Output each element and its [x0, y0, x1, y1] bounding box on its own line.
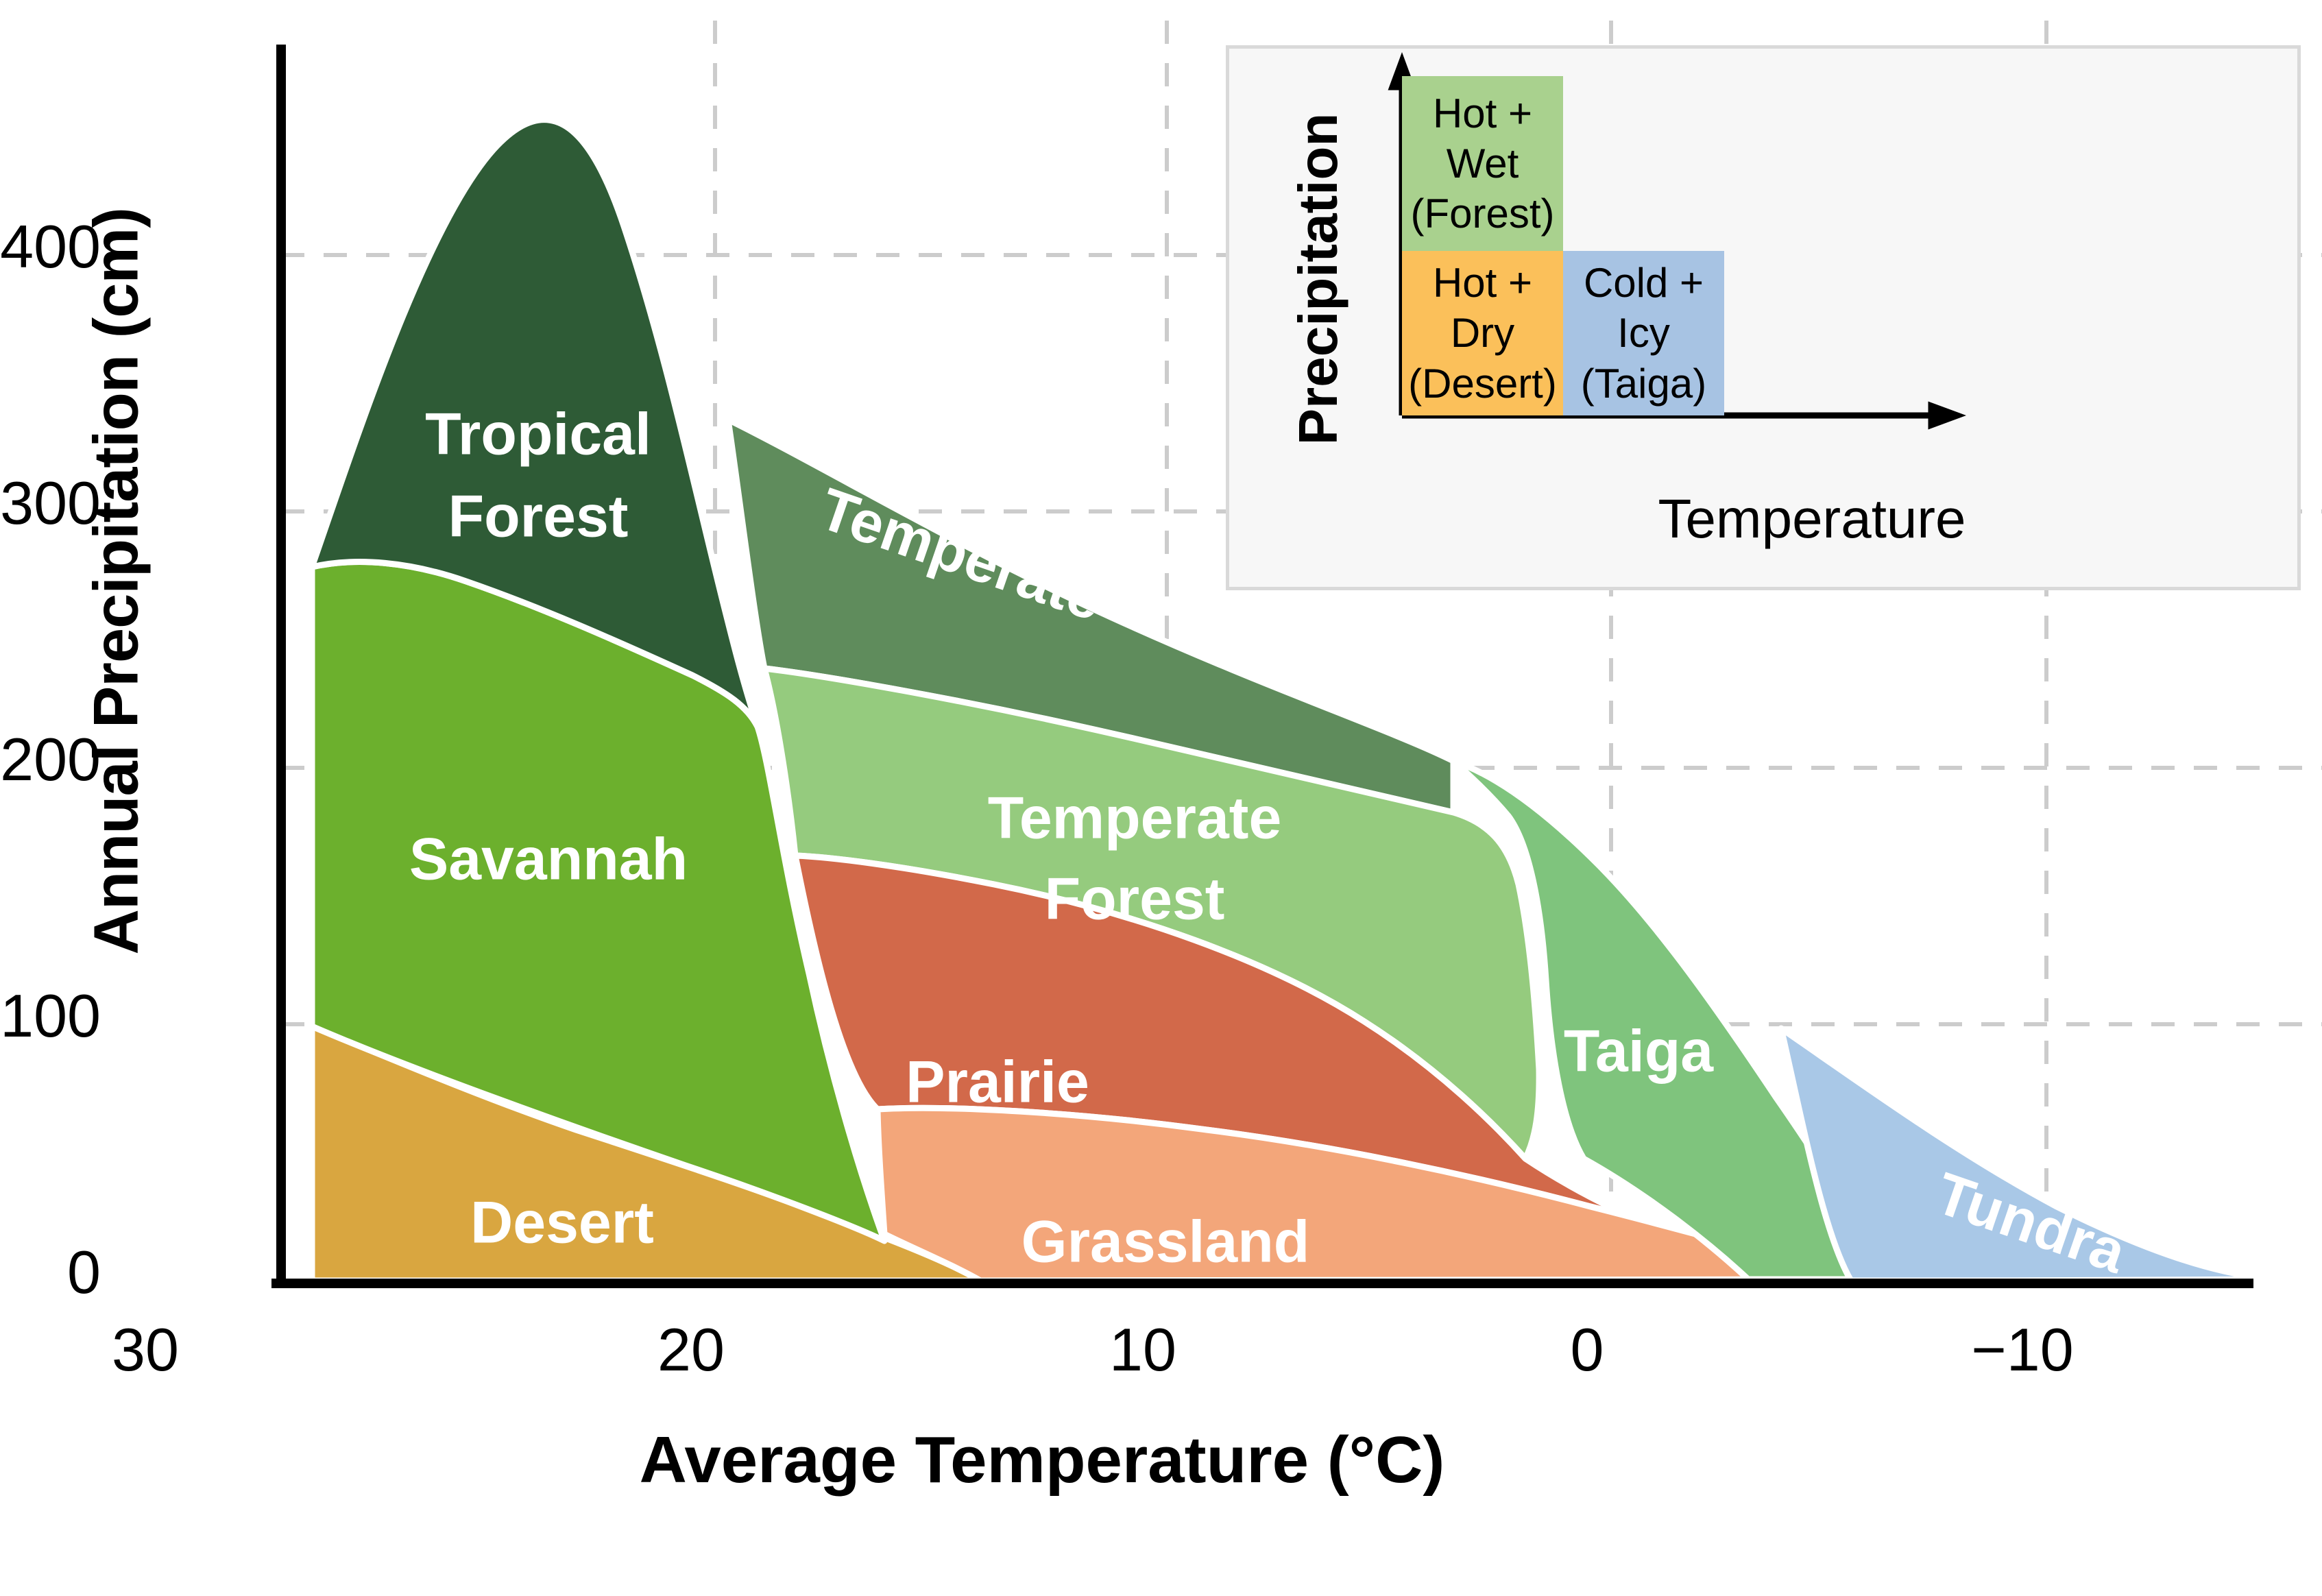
legend-x-arrow-icon [1931, 406, 1957, 425]
label-temperate-forest-line2: Forest [1045, 867, 1225, 932]
label-prairie: Prairie [906, 1050, 1089, 1115]
legend-x-axis-label: Temperature [1503, 487, 2120, 551]
legend-cold-icy-line2: (Taiga) [1581, 359, 1706, 409]
label-savannah: Savannah [409, 827, 688, 893]
label-tropical-forest-line2: Forest [448, 484, 629, 550]
legend-hot-dry-line1: Hot + Dry [1402, 258, 1563, 358]
legend-hot-wet-line2: (Forest) [1411, 189, 1555, 239]
legend-quadrant-hot-dry: Hot + Dry (Desert) [1402, 251, 1563, 415]
legend-hot-dry-line2: (Desert) [1408, 359, 1557, 409]
whittaker-biome-chart: Annual Precipitation (cm) 400 300 200 10… [0, 0, 2322, 1596]
label-desert: Desert [470, 1190, 654, 1256]
legend-box: Precipitation Hot + Wet (Forest) Hot + D… [1226, 45, 2301, 590]
label-tropical-forest-line1: Tropical [425, 402, 651, 468]
legend-hot-wet-line1: Hot + Wet [1402, 88, 1563, 189]
legend-quadrant-hot-wet: Hot + Wet (Forest) [1402, 76, 1563, 251]
legend-cold-icy-line1: Cold + Icy [1563, 258, 1724, 358]
label-taiga: Taiga [1564, 1019, 1714, 1085]
legend-quadrant-cold-icy: Cold + Icy (Taiga) [1563, 251, 1724, 415]
legend-inner: Precipitation Hot + Wet (Forest) Hot + D… [1229, 49, 2297, 587]
label-grassland: Grassland [1021, 1209, 1310, 1275]
label-temperate-forest-line1: Temperate [988, 786, 1282, 851]
